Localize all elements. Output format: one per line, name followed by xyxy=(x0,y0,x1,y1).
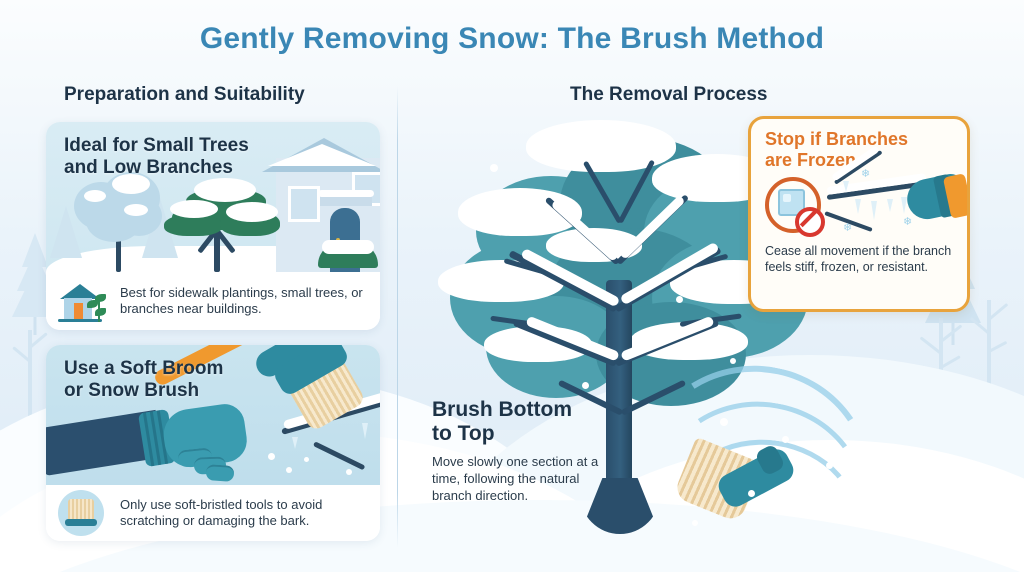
card-caption-text: Best for sidewalk plantings, small trees… xyxy=(120,285,366,318)
card-caption-row: Only use soft-bristled tools to avoid sc… xyxy=(46,485,380,541)
card-title: Ideal for Small Trees and Low Branches xyxy=(64,135,249,179)
snowflake-icon: ❄ xyxy=(861,169,870,180)
card-illustration-gloved-hand-with-brush: Use a Soft Broom or Snow Brush xyxy=(46,345,380,485)
section-heading-removal: The Removal Process xyxy=(570,84,767,106)
card-ideal-for-small-trees: Ideal for Small Trees and Low Branches B… xyxy=(46,122,380,330)
step-caption: Move slowly one section at a time, follo… xyxy=(432,454,622,505)
snowflake-icon: ❄ xyxy=(903,217,912,228)
bare-tree-illustration xyxy=(72,168,164,272)
section-heading-preparation: Preparation and Suitability xyxy=(64,84,305,106)
callout-title: Stop if Branches are Frozen xyxy=(765,129,925,170)
card-caption-row: Best for sidewalk plantings, small trees… xyxy=(46,272,380,330)
evergreen-tree-illustration xyxy=(164,174,284,272)
house-with-plant-icon xyxy=(58,278,110,324)
page-title: Gently Removing Snow: The Brush Method xyxy=(0,22,1024,56)
callout-caption: Cease all movement if the branch feels s… xyxy=(765,243,961,276)
infographic-canvas: Gently Removing Snow: The Brush Method P… xyxy=(0,0,1024,572)
card-illustration-small-trees-and-house: Ideal for Small Trees and Low Branches xyxy=(46,122,380,272)
card-use-a-soft-broom: Use a Soft Broom or Snow Brush Only use … xyxy=(46,345,380,541)
column-divider xyxy=(397,86,398,548)
step-brush-bottom-to-top: Brush Bottom to Top Move slowly one sect… xyxy=(432,398,622,505)
frozen-ice-cube-prohibited-icon xyxy=(765,177,827,235)
callout-stop-if-frozen: Stop if Branches are Frozen ❄ ❄ ❄ Cease … xyxy=(748,116,970,312)
snowflake-icon: ❄ xyxy=(843,223,852,234)
step-title: Brush Bottom to Top xyxy=(432,398,622,446)
card-caption-text: Only use soft-bristled tools to avoid sc… xyxy=(120,497,366,530)
soft-brush-icon xyxy=(58,490,110,536)
card-title: Use a Soft Broom or Snow Brush xyxy=(64,358,223,402)
